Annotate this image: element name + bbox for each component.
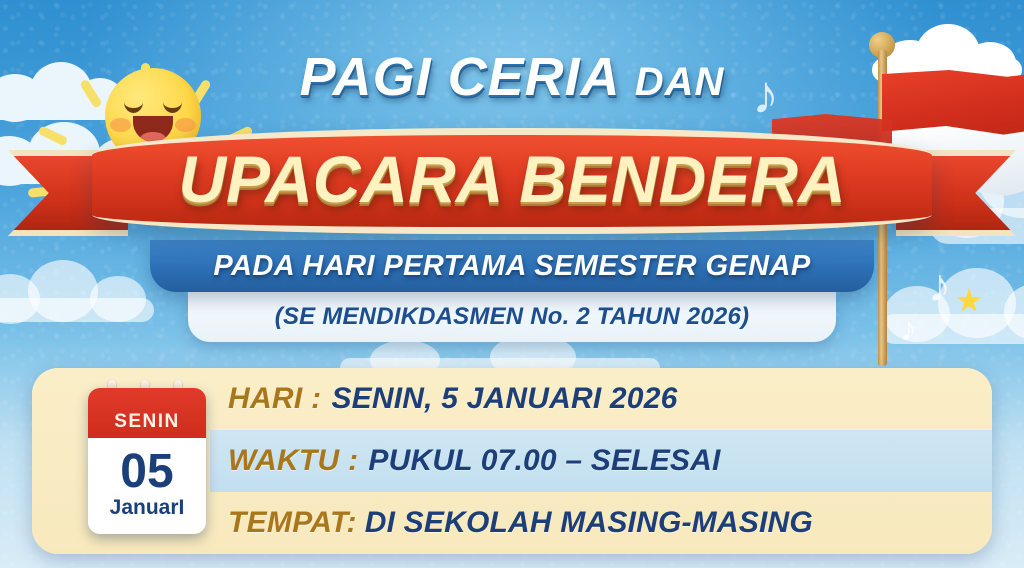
- detail-label-tempat: TEMPAT:: [228, 506, 357, 540]
- calendar-day-number: 05: [88, 438, 206, 502]
- detail-label-waktu: WAKTU :: [228, 444, 358, 478]
- regulation-banner: (SE MENDIKDASMEN No. 2 TAHUN 2026): [188, 292, 836, 342]
- calendar-header: SENIN: [88, 388, 206, 438]
- main-title-text: UPACARA BENDERA: [92, 128, 932, 234]
- main-title-ribbon: UPACARA BENDERA: [92, 128, 932, 234]
- headline-main: PAGI CERIA: [300, 47, 619, 107]
- headline-conjunction: DAN: [635, 60, 725, 104]
- cloud-left-lower: [0, 260, 154, 324]
- detail-label-hari: HARI :: [228, 382, 321, 416]
- detail-row-tempat: TEMPAT: DI SEKOLAH MASING-MASING: [210, 492, 992, 554]
- detail-value-waktu: PUKUL 07.00 – SELESAI: [368, 444, 720, 478]
- detail-row-waktu: WAKTU : PUKUL 07.00 – SELESAI: [210, 430, 992, 492]
- calendar-icon: SENIN 05 JanuarI: [88, 388, 206, 534]
- page-title: PAGI CERIA DAN: [0, 46, 1024, 108]
- event-details-rows: HARI : SENIN, 5 JANUARI 2026 WAKTU : PUK…: [210, 368, 992, 554]
- detail-value-hari: SENIN, 5 JANUARI 2026: [331, 382, 677, 416]
- calendar-month: JanuarI: [88, 496, 206, 520]
- subtitle-text: PADA HARI PERTAMA SEMESTER GENAP: [213, 250, 810, 283]
- detail-row-hari: HARI : SENIN, 5 JANUARI 2026: [210, 368, 992, 430]
- subtitle-banner: PADA HARI PERTAMA SEMESTER GENAP: [150, 240, 874, 292]
- calendar-day-name: SENIN: [114, 411, 180, 433]
- poster-canvas: ♪ ♪ ♪ PAGI CERIA DAN PADA HARI PERTAMA S…: [0, 0, 1024, 568]
- calendar-body: SENIN 05 JanuarI: [88, 388, 206, 534]
- regulation-text: (SE MENDIKDASMEN No. 2 TAHUN 2026): [275, 303, 749, 331]
- detail-value-tempat: DI SEKOLAH MASING-MASING: [365, 506, 813, 540]
- event-details-panel: HARI : SENIN, 5 JANUARI 2026 WAKTU : PUK…: [32, 368, 992, 554]
